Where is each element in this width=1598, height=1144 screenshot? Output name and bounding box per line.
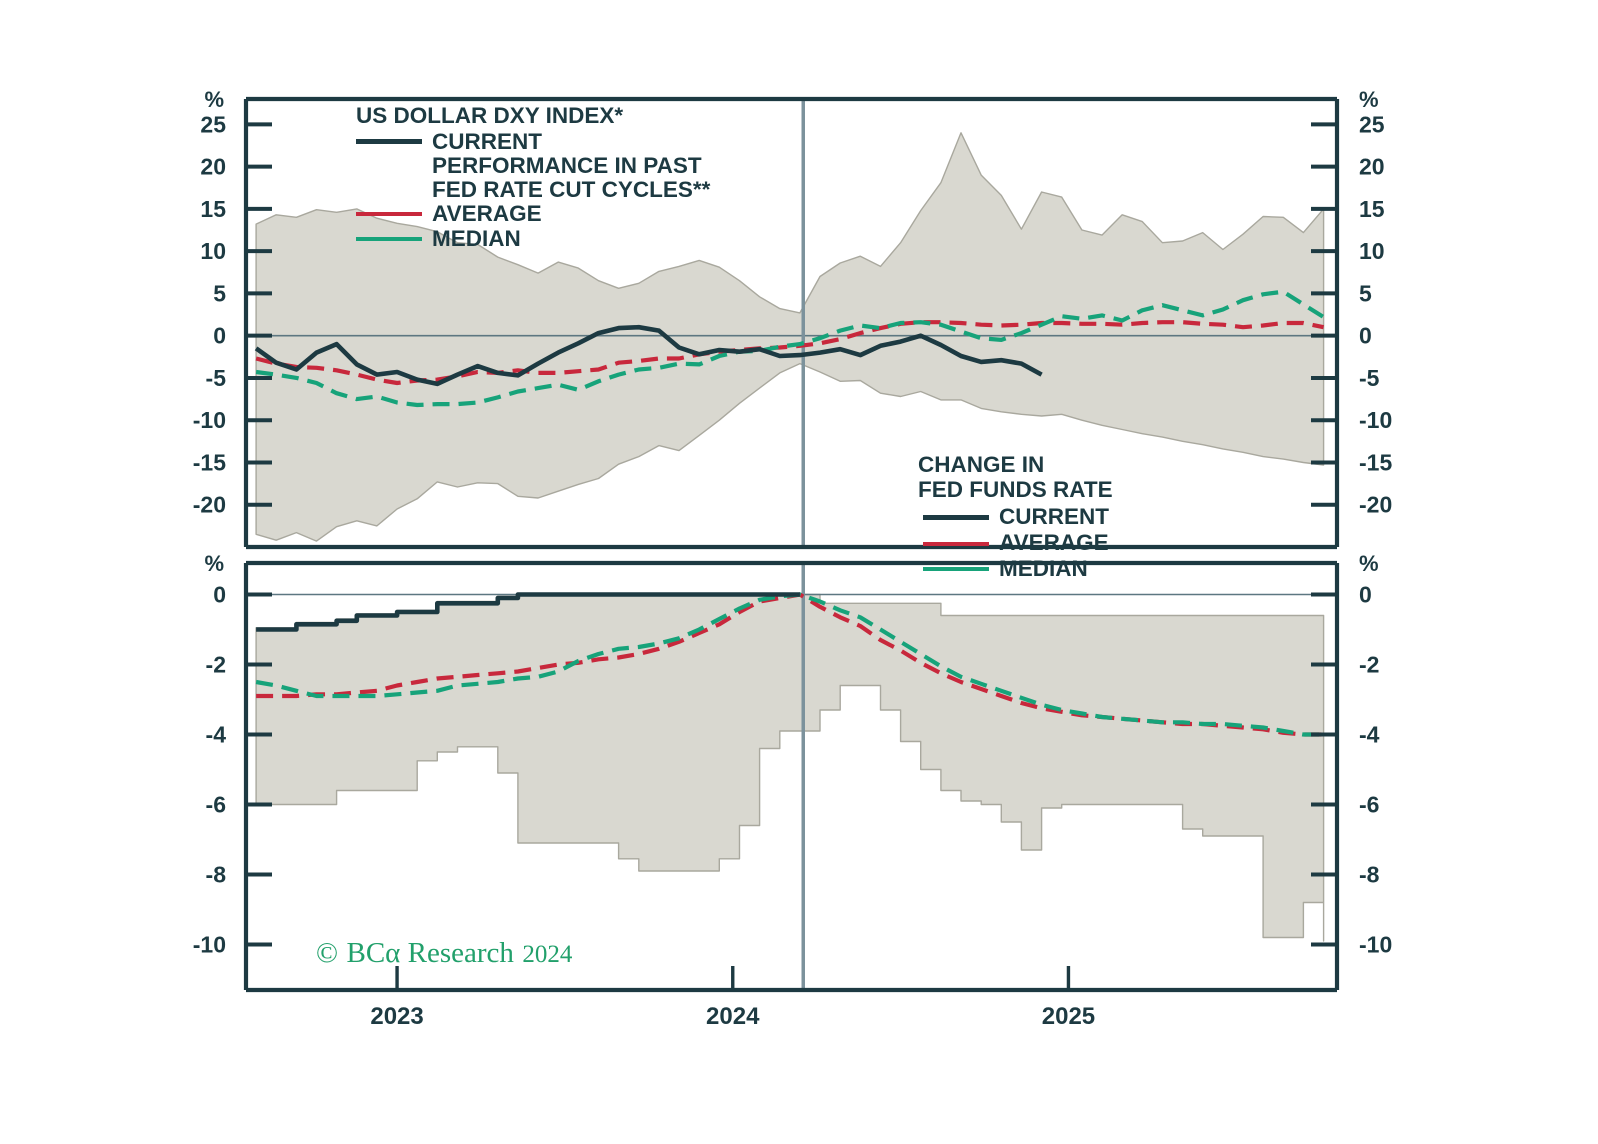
fed-funds-legend-title-line2: FED FUNDS RATE (918, 477, 1238, 502)
top-panel-ylabel-left-0: 0 (213, 323, 226, 349)
top-panel-ylabel-right-0: 0 (1359, 323, 1372, 349)
fed-legend-label-median: MEDIAN (999, 557, 1088, 582)
average-line-swatch (356, 212, 422, 216)
top-panel-ylabel-left-25: 25 (200, 111, 226, 137)
bottom-panel-yunit-right: % (1359, 551, 1379, 576)
top-legend-label-current: CURRENT (432, 130, 542, 154)
bottom-panel-ylabel-right-0: 0 (1359, 582, 1372, 608)
fed-legend-row-average: AVERAGE (918, 531, 1238, 556)
current-line-swatch (356, 139, 422, 144)
dxy-fed-rate-cut-chart: 25252020151510105500-5-5-10-10-15-15-20-… (0, 0, 1598, 1144)
top-legend-label-median: MEDIAN (432, 227, 521, 251)
xlabel-2024: 2024 (706, 1003, 760, 1030)
bottom-panel-ylabel-right--4: -4 (1359, 722, 1380, 748)
bottom-panel-ylabel-right--6: -6 (1359, 792, 1379, 818)
xlabel-2023: 2023 (370, 1003, 423, 1030)
bottom-panel-ylabel-right--8: -8 (1359, 862, 1380, 888)
top-panel-ylabel-right-15: 15 (1359, 196, 1385, 222)
copyright-name: BCα Research (347, 937, 514, 969)
bottom-panel-ylabel-right--2: -2 (1359, 652, 1379, 678)
top-panel-ylabel-right-10: 10 (1359, 238, 1385, 264)
top-panel-ylabel-right-20: 20 (1359, 154, 1385, 180)
top-panel-ylabel-left-5: 5 (213, 280, 226, 306)
bottom-panel-ylabel-left-0: 0 (213, 582, 226, 608)
bottom-panel-ylabel-left--4: -4 (206, 722, 227, 748)
top-panel-ylabel-left--10: -10 (193, 407, 226, 433)
top-panel-ylabel-left-15: 15 (200, 196, 226, 222)
median-line-swatch (923, 567, 989, 571)
fed-legend-label-average: AVERAGE (999, 531, 1109, 556)
copyright-notice: © BCα Research 2024 (316, 937, 572, 970)
average-line-swatch (923, 542, 989, 546)
bottom-panel-ylabel-left--8: -8 (206, 862, 227, 888)
fed-legend-row-median: MEDIAN (918, 557, 1238, 582)
top-legend-subtitle-line2: FED RATE CUT CYCLES** (432, 178, 776, 202)
copyright-year: 2024 (522, 941, 572, 968)
fed-legend-row-current: CURRENT (918, 505, 1238, 530)
top-legend-row-average: AVERAGE (356, 202, 776, 226)
top-legend-label-average: AVERAGE (432, 202, 542, 226)
fed-funds-legend-title-line1: CHANGE IN (918, 452, 1238, 477)
top-panel-ylabel-right--20: -20 (1359, 492, 1392, 518)
copyright-mark: © (316, 937, 338, 969)
top-legend-subtitle: PERFORMANCE IN PAST FED RATE CUT CYCLES*… (432, 154, 776, 202)
top-legend-row-median: MEDIAN (356, 227, 776, 251)
bottom-panel-ylabel-left--10: -10 (193, 932, 226, 958)
top-panel-legend: US DOLLAR DXY INDEX* CURRENT PERFORMANCE… (356, 104, 776, 251)
fed-legend-label-current: CURRENT (999, 505, 1109, 530)
bottom-panel-ylabel-left--2: -2 (206, 652, 226, 678)
top-panel-ylabel-right--5: -5 (1359, 365, 1380, 391)
top-legend-title: US DOLLAR DXY INDEX* (356, 104, 776, 128)
top-panel-ylabel-left--20: -20 (193, 492, 226, 518)
chart-page: 25252020151510105500-5-5-10-10-15-15-20-… (0, 0, 1598, 1144)
top-panel-ylabel-left-10: 10 (200, 238, 226, 264)
top-panel-ylabel-right-5: 5 (1359, 280, 1372, 306)
fed-funds-legend: CHANGE IN FED FUNDS RATE CURRENT AVERAGE… (918, 452, 1238, 582)
top-panel-yunit-left: % (204, 87, 224, 112)
bottom-panel-ylabel-right--10: -10 (1359, 932, 1392, 958)
median-line-swatch (356, 237, 422, 241)
top-panel-ylabel-right-25: 25 (1359, 111, 1385, 137)
top-panel-ylabel-right--10: -10 (1359, 407, 1392, 433)
top-panel-ylabel-left--15: -15 (193, 449, 226, 475)
top-legend-row-current: CURRENT (356, 130, 776, 154)
top-panel-ylabel-left-20: 20 (200, 154, 226, 180)
top-panel-yunit-right: % (1359, 87, 1379, 112)
top-panel-ylabel-left--5: -5 (206, 365, 227, 391)
bottom-panel-yunit-left: % (204, 551, 224, 576)
xlabel-2025: 2025 (1042, 1003, 1095, 1030)
top-panel-ylabel-right--15: -15 (1359, 449, 1392, 475)
current-line-swatch (923, 515, 989, 520)
top-legend-subtitle-line1: PERFORMANCE IN PAST (432, 154, 776, 178)
bottom-panel-ylabel-left--6: -6 (206, 792, 226, 818)
